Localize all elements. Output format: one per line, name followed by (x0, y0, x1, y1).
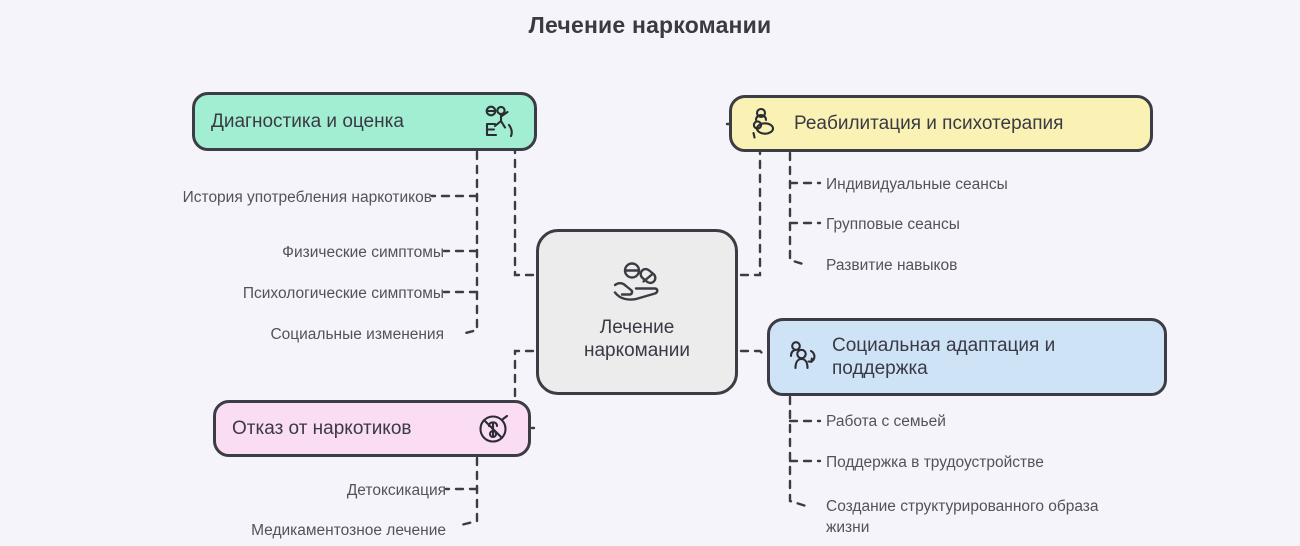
branch-node-refusal[interactable]: Отказ от наркотиков (213, 400, 531, 457)
center-node-label: Лечение наркомании (584, 316, 690, 364)
people-support-icon (786, 339, 822, 375)
leaf-item[interactable]: Работа с семьей (826, 412, 1146, 433)
branch-label-social: Социальная адаптация и поддержка (832, 334, 1055, 380)
leaf-item[interactable]: Детоксикация (80, 481, 446, 502)
therapy-session-icon (748, 106, 784, 142)
leaf-item[interactable]: Групповые сеансы (826, 215, 1126, 236)
leaf-item[interactable]: Социальные изменения (80, 325, 444, 346)
leaf-item[interactable]: Медикаментозное лечение (80, 521, 446, 542)
leaf-item[interactable]: Поддержка в трудоустройстве (826, 453, 1146, 474)
connector-refusal-trunk (461, 458, 477, 525)
connector-diagnostics-trunk (462, 152, 477, 334)
connector-social-trunk (790, 397, 806, 506)
leaf-item[interactable]: История употребления наркотиков (80, 188, 432, 209)
person-assessment-icon (482, 104, 518, 140)
leaf-item[interactable]: Психологические симптомы (80, 284, 444, 305)
hand-holding-pills-icon (610, 261, 664, 310)
no-drugs-icon (476, 411, 512, 447)
center-node[interactable]: Лечение наркомании (536, 229, 738, 395)
leaf-item[interactable]: Индивидуальные сеансы (826, 175, 1126, 196)
page-title: Лечение наркомании (0, 12, 1300, 39)
branch-node-diagnostics[interactable]: Диагностика и оценка (192, 92, 537, 151)
connector-rehabilitation-trunk (790, 153, 806, 265)
leaf-item[interactable]: Физические симптомы (80, 243, 444, 264)
branch-node-rehabilitation[interactable]: Реабилитация и психотерапия (729, 95, 1153, 152)
branch-label-refusal: Отказ от наркотиков (232, 417, 412, 440)
branch-label-diagnostics: Диагностика и оценка (211, 110, 404, 133)
branch-node-social[interactable]: Социальная адаптация и поддержка (767, 318, 1167, 396)
connector-center-social (741, 351, 766, 357)
branch-label-rehabilitation: Реабилитация и психотерапия (794, 112, 1063, 135)
mindmap-canvas: Лечение наркомании (0, 0, 1300, 546)
leaf-item[interactable]: Создание структурированного образа жизни (826, 497, 1156, 539)
leaf-item[interactable]: Развитие навыков (826, 256, 1126, 277)
